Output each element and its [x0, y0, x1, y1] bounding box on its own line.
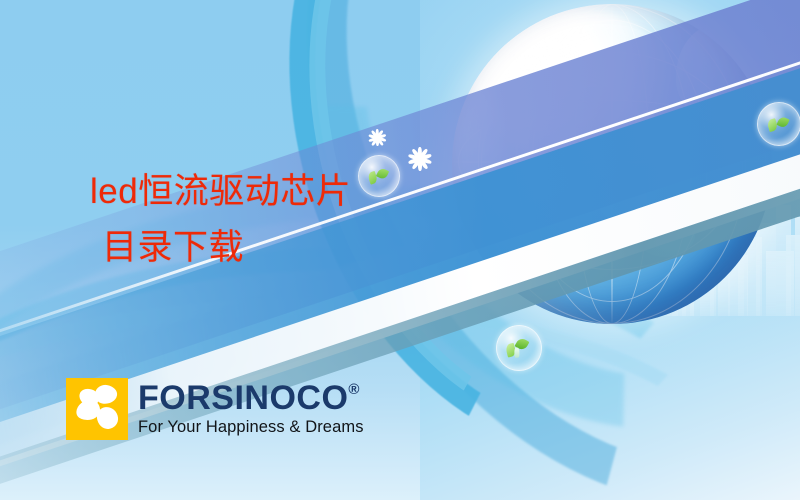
brand-logo-text: FORSINOCO® For Your Happiness & Dreams — [138, 381, 364, 437]
headline-line-2: 目录下载 — [90, 220, 351, 276]
flower-sparkle-small — [369, 129, 386, 146]
bubble-center — [496, 325, 542, 371]
registered-trademark-icon: ® — [348, 382, 360, 397]
brand-name: FORSINOCO — [138, 381, 348, 415]
brand-tagline: For Your Happiness & Dreams — [138, 417, 364, 437]
headline-line-1: led恒流驱动芯片 — [90, 172, 351, 211]
brand-logo[interactable]: FORSINOCO® For Your Happiness & Dreams — [66, 378, 364, 440]
four-petal-flower-icon — [66, 378, 128, 440]
headline: led恒流驱动芯片 目录下载 — [90, 164, 351, 276]
flower-sparkle-large — [408, 147, 432, 171]
promo-banner: led恒流驱动芯片 目录下载 FORSINOCO® For Your Happi… — [0, 0, 800, 500]
brand-name-row: FORSINOCO® — [138, 381, 364, 415]
bubble-right — [757, 102, 800, 146]
bubble-left — [358, 155, 400, 197]
